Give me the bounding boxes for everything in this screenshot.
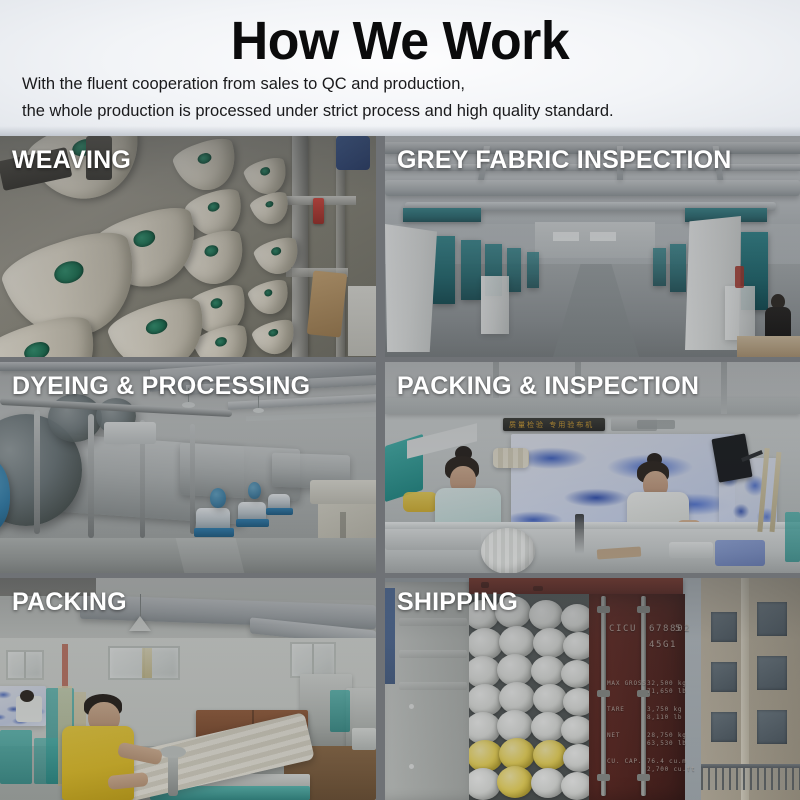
container-serial: 678802 [649, 624, 691, 634]
container-net-kg: 28,750 kg [647, 732, 687, 739]
container-check-digit: 5 [675, 624, 682, 634]
container-cucap-lb: 2,700 cu.ft [647, 766, 696, 773]
cell-label-weaving: WEAVING [12, 146, 131, 175]
grid-cell-packing-inspection[interactable]: 质量检验 专用验布机 [385, 362, 800, 573]
container-maxgross-kg: 32,500 kg [647, 680, 687, 687]
cell-label-packing: PACKING [12, 588, 127, 617]
container-net-label: NET [607, 732, 620, 739]
container-type-code: 45G1 [649, 640, 677, 650]
cell-label-grey-fabric-inspection: GREY FABRIC INSPECTION [397, 146, 732, 175]
signboard-text: 质量检验 专用验布机 [509, 420, 594, 430]
inspection-signboard: 质量检验 专用验布机 [503, 418, 605, 431]
cell-label-packing-inspection: PACKING & INSPECTION [397, 372, 699, 401]
subtitle-line-1: With the fluent cooperation from sales t… [22, 75, 465, 94]
container-cucap-kg: 76.4 cu.m [647, 758, 687, 765]
container-tare-lb: 8,110 lb [647, 714, 682, 721]
container-tare-label: TARE [607, 706, 625, 713]
container-cucap-label: CU. CAP. [607, 758, 642, 765]
container-maxgross-lb: 71,650 lb [647, 688, 687, 695]
subtitle-line-2: the whole production is processed under … [22, 102, 614, 121]
grid-cell-grey-fabric-inspection[interactable]: GREY FABRIC INSPECTION [385, 136, 800, 357]
grid-cell-shipping[interactable]: CICU 678802 5 45G1 MAX GROSS 32,500 kg 7… [385, 578, 800, 800]
page-header: How We Work With the fluent cooperation … [0, 0, 800, 136]
process-grid: WEAVING [0, 136, 800, 800]
cell-label-dyeing-processing: DYEING & PROCESSING [12, 372, 310, 401]
grid-cell-packing[interactable]: PACKING [0, 578, 376, 800]
page-title: How We Work [16, 12, 784, 70]
container-tare-kg: 3,750 kg [647, 706, 682, 713]
grid-cell-dyeing-processing[interactable]: DYEING & PROCESSING [0, 362, 376, 573]
container-net-lb: 63,530 lb [647, 740, 687, 747]
container-maxgross-label: MAX GROSS [607, 680, 647, 687]
grid-cell-weaving[interactable]: WEAVING [0, 136, 376, 357]
container-owner-code: CICU [609, 624, 637, 634]
cell-label-shipping: SHIPPING [397, 588, 518, 617]
